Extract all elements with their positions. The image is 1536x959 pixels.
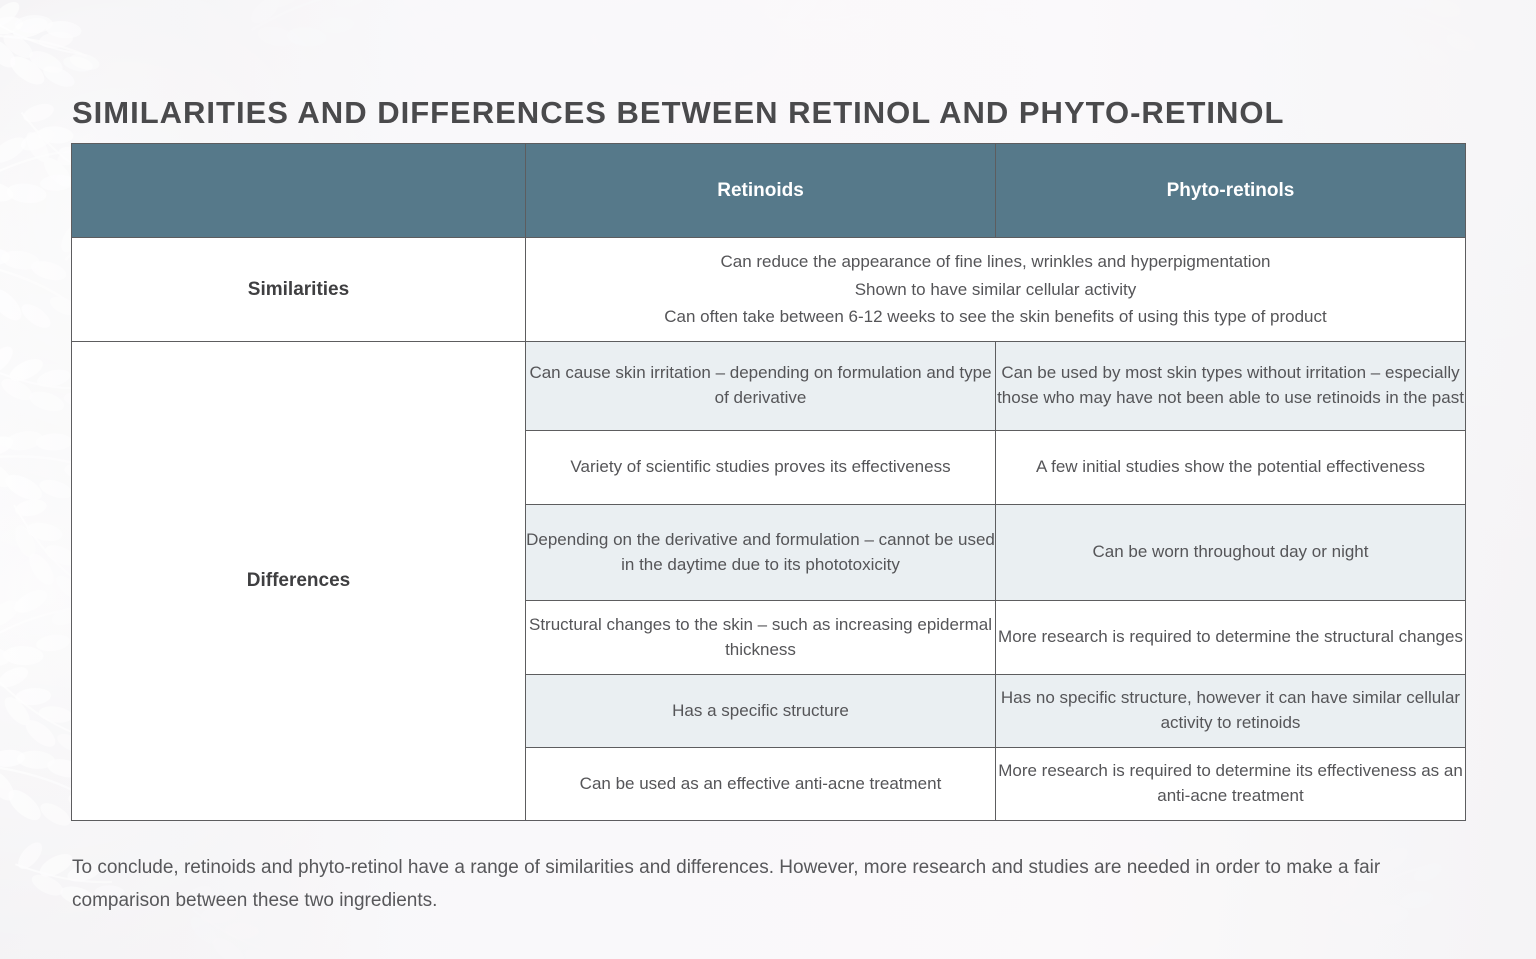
table-body: Similarities Can reduce the appearance o… [72,238,1466,821]
cell-retinoids-2: Variety of scientific studies proves its… [526,431,996,505]
header-cell-retinoids: Retinoids [526,144,996,238]
cell-phyto-6: More research is required to determine i… [996,748,1466,821]
similarities-line-3: Can often take between 6-12 weeks to see… [526,303,1465,331]
comparison-table: Retinoids Phyto-retinols Similarities Ca… [71,143,1466,821]
cell-phyto-2: A few initial studies show the potential… [996,431,1466,505]
table-header: Retinoids Phyto-retinols [72,144,1466,238]
cell-retinoids-1: Can cause skin irritation – depending on… [526,342,996,431]
cell-phyto-3: Can be worn throughout day or night [996,505,1466,601]
cell-retinoids-4: Structural changes to the skin – such as… [526,601,996,675]
cell-retinoids-5: Has a specific structure [526,675,996,748]
header-cell-phyto-retinols: Phyto-retinols [996,144,1466,238]
cell-phyto-1: Can be used by most skin types without i… [996,342,1466,431]
table-row-differences-1: Differences Can cause skin irritation – … [72,342,1466,431]
table-header-row: Retinoids Phyto-retinols [72,144,1466,238]
cell-retinoids-6: Can be used as an effective anti-acne tr… [526,748,996,821]
cell-phyto-4: More research is required to determine t… [996,601,1466,675]
row-label-similarities: Similarities [72,238,526,342]
conclusion-text: To conclude, retinoids and phyto-retinol… [72,852,1442,918]
cell-retinoids-3: Depending on the derivative and formulat… [526,505,996,601]
header-cell-blank [72,144,526,238]
row-label-differences: Differences [72,342,526,821]
similarities-content-cell: Can reduce the appearance of fine lines,… [526,238,1466,342]
table-row-similarities: Similarities Can reduce the appearance o… [72,238,1466,342]
similarities-line-2: Shown to have similar cellular activity [526,276,1465,304]
page-title: SIMILARITIES AND DIFFERENCES BETWEEN RET… [72,95,1284,131]
cell-phyto-5: Has no specific structure, however it ca… [996,675,1466,748]
infographic-page: SIMILARITIES AND DIFFERENCES BETWEEN RET… [0,0,1536,959]
similarities-line-1: Can reduce the appearance of fine lines,… [526,248,1465,276]
